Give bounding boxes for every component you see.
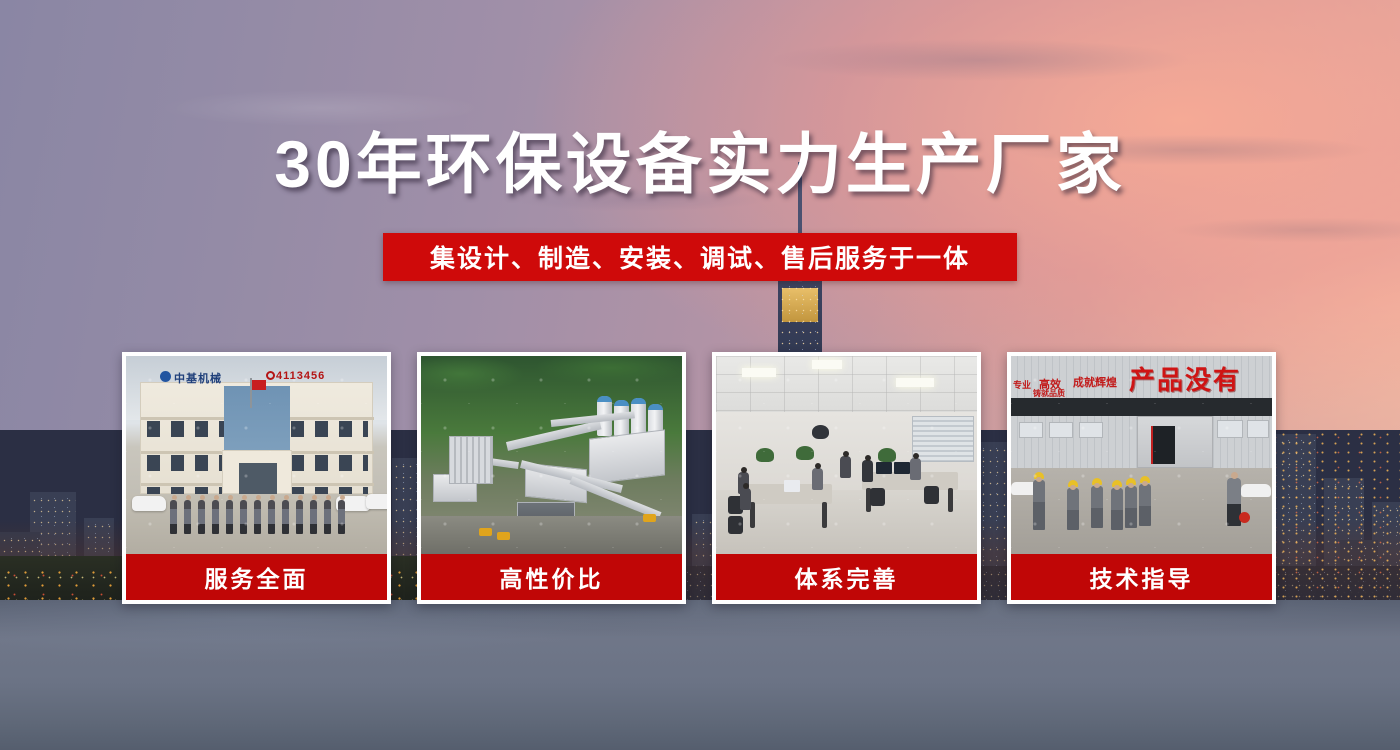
feature-card[interactable]: 体系完善: [712, 352, 981, 604]
card-caption-text: 高性价比: [500, 560, 604, 594]
office-interior-photo: [716, 356, 977, 554]
card-caption: 技术指导: [1011, 554, 1272, 600]
building-phone-text: 4113456: [276, 370, 325, 382]
company-headquarters-photo: 中基机械 4113456: [126, 356, 387, 554]
feature-card[interactable]: 高性价比: [417, 352, 686, 604]
phone-icon: [266, 371, 275, 380]
building-sign-text: 中基机械: [174, 370, 222, 386]
card-caption-text: 体系完善: [795, 560, 899, 594]
wall-decal: [800, 414, 840, 444]
red-helmet: [1239, 512, 1250, 523]
card-caption-text: 服务全面: [205, 560, 309, 594]
production-plant-aerial-photo: [421, 356, 682, 554]
feature-card[interactable]: 中基机械 4113456: [122, 352, 391, 604]
factory-slogan: 成就辉煌: [1073, 374, 1117, 390]
subtitle-banner: 集设计、制造、安装、调试、售后服务于一体: [383, 233, 1017, 281]
page-title: 30年环保设备实力生产厂家: [0, 128, 1400, 200]
factory-wall-sign: 产品没有: [1129, 360, 1241, 397]
factory-slogan: 专业: [1013, 378, 1031, 391]
river-water: [0, 600, 1400, 750]
banner-stage: 30年环保设备实力生产厂家 集设计、制造、安装、调试、售后服务于一体: [0, 0, 1400, 750]
card-caption: 体系完善: [716, 554, 977, 600]
subtitle-text: 集设计、制造、安装、调试、售后服务于一体: [430, 239, 970, 275]
card-caption: 服务全面: [126, 554, 387, 600]
feature-card-list: 中基机械 4113456: [122, 352, 1279, 604]
window-blinds: [912, 416, 974, 462]
card-caption: 高性价比: [421, 554, 682, 600]
company-logo-mark: [160, 371, 171, 382]
feature-card[interactable]: 产品没有 专业 高效 成就辉煌 铸就品质: [1007, 352, 1276, 604]
workers-training-photo: 产品没有 专业 高效 成就辉煌 铸就品质: [1011, 356, 1272, 554]
card-caption-text: 技术指导: [1090, 560, 1194, 594]
